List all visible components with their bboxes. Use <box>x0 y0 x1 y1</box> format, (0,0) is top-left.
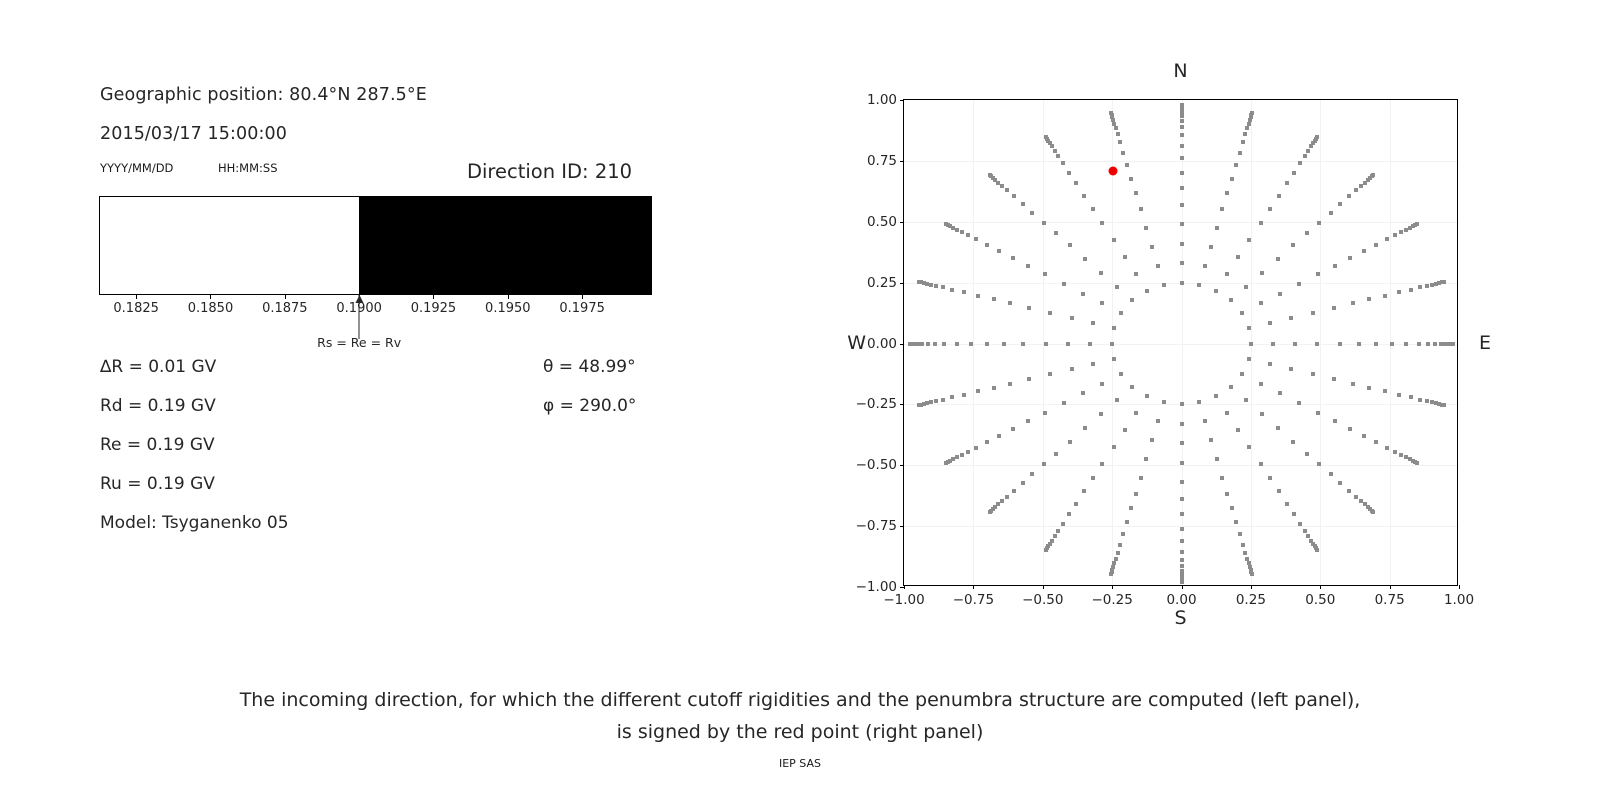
scatter-point <box>1292 512 1296 516</box>
scatter-point <box>1082 194 1086 198</box>
scatter-point <box>1348 256 1352 260</box>
scatter-point <box>1112 326 1116 330</box>
scatter-point <box>1298 522 1302 526</box>
scatter-point <box>1043 411 1047 415</box>
scatter-point <box>944 461 948 465</box>
scatter-point <box>1068 243 1072 247</box>
scatter-point <box>1245 126 1249 130</box>
caption-line-2: is signed by the red point (right panel) <box>0 716 1600 748</box>
scatter-point <box>1180 558 1184 562</box>
geographic-position-text: Geographic position: 80.4°N 287.5°E <box>100 85 427 105</box>
scatter-point <box>1238 532 1242 536</box>
scatter-point <box>1348 427 1352 431</box>
scatter-point <box>1247 357 1251 361</box>
scatter-point <box>1005 188 1009 192</box>
scatter-point <box>1134 411 1138 415</box>
scatter-point <box>1144 457 1148 461</box>
scatter-point <box>1123 428 1127 432</box>
scatter-point <box>1277 194 1281 198</box>
scatter-point <box>955 455 959 459</box>
scatter-point <box>1180 133 1184 137</box>
x-tick-label: 0.50 <box>1305 592 1335 608</box>
scatter-point <box>1329 472 1333 476</box>
scatter-point <box>1099 271 1103 275</box>
y-tick-mark <box>900 100 904 101</box>
scatter-point <box>929 400 933 404</box>
scatter-point <box>1061 522 1065 526</box>
scatter-point <box>1043 272 1047 276</box>
scatter-point <box>1315 342 1319 346</box>
scatter-point <box>1081 391 1085 395</box>
scatter-point <box>1180 402 1184 406</box>
scatter-point <box>1225 272 1229 276</box>
y-tick-label: −0.50 <box>856 457 897 473</box>
penumbra-tick-mark <box>508 295 509 299</box>
scatter-point <box>1042 221 1046 225</box>
scatter-point <box>1289 316 1293 320</box>
scatter-point <box>1230 506 1234 510</box>
scatter-point <box>976 389 980 393</box>
scatter-point <box>1354 495 1358 499</box>
scatter-point <box>1180 186 1184 190</box>
x-tick-label: 0.25 <box>1236 592 1266 608</box>
scatter-point <box>1316 272 1320 276</box>
compass-north-label: N <box>1173 60 1187 82</box>
penumbra-tick-label: 0.1975 <box>559 301 605 316</box>
scatter-point <box>1180 527 1184 531</box>
scatter-point <box>1260 412 1264 416</box>
scatter-point <box>1241 543 1245 547</box>
rs-re-rv-arrow-icon <box>359 295 360 339</box>
scatter-point <box>1374 440 1378 444</box>
scatter-point <box>1125 163 1129 167</box>
scatter-point <box>1180 422 1184 426</box>
selected-direction-point[interactable] <box>1109 167 1118 176</box>
scatter-point <box>1156 264 1160 268</box>
scatter-point <box>1074 502 1078 506</box>
datetime-text: 2015/03/17 15:00:00 <box>100 124 287 144</box>
param-theta: θ = 48.99° <box>543 357 636 377</box>
rs-re-rv-label: Rs = Re = Rv <box>317 335 401 350</box>
scatter-point <box>1203 264 1207 268</box>
scatter-point <box>1044 135 1048 139</box>
scatter-point <box>1145 289 1149 293</box>
scatter-point <box>960 453 964 457</box>
scatter-point <box>1026 419 1030 423</box>
y-tick-mark <box>900 404 904 405</box>
scatter-point <box>974 237 978 241</box>
scatter-point <box>1066 342 1070 346</box>
scatter-point <box>1291 440 1295 444</box>
scatter-point <box>1109 572 1113 576</box>
scatter-point <box>997 249 1001 253</box>
x-tick-mark <box>1459 585 1460 589</box>
scatter-point <box>1333 264 1337 268</box>
scatter-point <box>1112 445 1116 449</box>
penumbra-tick-label: 0.1925 <box>411 301 457 316</box>
scatter-point <box>1114 126 1118 130</box>
y-tick-label: 0.25 <box>867 275 897 291</box>
scatter-point <box>1067 171 1071 175</box>
scatter-point <box>1130 385 1134 389</box>
scatter-point <box>1425 284 1429 288</box>
scatter-point <box>1005 495 1009 499</box>
compass-east-label: E <box>1479 332 1491 354</box>
scatter-point <box>1244 285 1248 289</box>
scatter-point <box>1144 226 1148 230</box>
scatter-point <box>1285 502 1289 506</box>
scatter-point <box>1247 445 1251 449</box>
scatter-point <box>1351 382 1355 386</box>
scatter-point <box>988 510 992 514</box>
scatter-point <box>1278 391 1282 395</box>
scatter-point <box>1399 230 1403 234</box>
scatter-point <box>966 450 970 454</box>
compass-south-label: S <box>1174 607 1186 629</box>
scatter-point <box>1289 367 1293 371</box>
scatter-point <box>1393 233 1397 237</box>
scatter-point <box>1234 520 1238 524</box>
scatter-point <box>1276 426 1280 430</box>
scatter-point <box>1048 311 1052 315</box>
scatter-point <box>1070 316 1074 320</box>
scatter-point <box>1374 243 1378 247</box>
scatter-point <box>908 342 912 346</box>
scatter-point <box>1150 245 1154 249</box>
scatter-point <box>976 294 980 298</box>
scatter-point <box>1351 301 1355 305</box>
scatter-point <box>950 288 954 292</box>
scatter-point <box>1229 298 1233 302</box>
scatter-point <box>1383 294 1387 298</box>
scatter-point <box>1214 289 1218 293</box>
scatter-point <box>1134 191 1138 195</box>
y-tick-mark <box>900 465 904 466</box>
scatter-point <box>1374 342 1378 346</box>
scatter-point <box>1150 438 1154 442</box>
penumbra-frame <box>99 196 652 295</box>
scatter-point <box>1225 492 1229 496</box>
scatter-point <box>1354 188 1358 192</box>
scatter-point <box>1180 580 1184 584</box>
scatter-point <box>1397 290 1401 294</box>
scatter-point <box>955 228 959 232</box>
scatter-point <box>1027 377 1031 381</box>
scatter-point <box>1121 151 1125 155</box>
x-tick-mark <box>904 585 905 589</box>
scatter-point <box>1383 389 1387 393</box>
gridline-vertical <box>1320 100 1321 585</box>
param-delta-r-text: ∆R = 0.01 GV <box>100 357 216 377</box>
scatter-point <box>1100 382 1104 386</box>
scatter-point <box>1393 450 1397 454</box>
scatter-point <box>1081 292 1085 296</box>
x-tick-mark <box>1182 585 1183 589</box>
scatter-point <box>1180 103 1184 107</box>
scatter-point <box>1215 457 1219 461</box>
scatter-point <box>1225 191 1229 195</box>
scatter-point <box>1285 181 1289 185</box>
scatter-point <box>1268 207 1272 211</box>
scatter-point <box>974 446 978 450</box>
scatter-point <box>1244 398 1248 402</box>
scatter-point <box>1247 238 1251 242</box>
scatter-point <box>942 342 946 346</box>
scatter-point <box>1259 462 1263 466</box>
x-tick-mark <box>1043 585 1044 589</box>
scatter-point <box>1082 489 1086 493</box>
scatter-point <box>1277 489 1281 493</box>
scatter-point <box>1409 395 1413 399</box>
scatter-point <box>1347 194 1351 198</box>
scatter-point <box>1249 342 1253 346</box>
gridline-horizontal <box>904 465 1457 466</box>
scatter-point <box>1083 426 1087 430</box>
scatter-point <box>1180 539 1184 543</box>
scatter-point <box>1056 154 1060 158</box>
scatter-point <box>1042 462 1046 466</box>
scatter-point <box>1030 472 1034 476</box>
scatter-point <box>992 386 996 390</box>
y-tick-mark <box>900 222 904 223</box>
scatter-point <box>1180 550 1184 554</box>
scatter-point <box>1119 372 1123 376</box>
scatter-point <box>1259 221 1263 225</box>
scatter-point <box>1250 111 1254 115</box>
scatter-point <box>1100 221 1104 225</box>
scatter-point <box>1053 149 1057 153</box>
scatter-point <box>1234 163 1238 167</box>
scatter-point <box>1048 372 1052 376</box>
param-phi: φ = 290.0° <box>543 396 636 416</box>
scatter-point <box>1415 461 1419 465</box>
x-tick-label: −0.25 <box>1091 592 1132 608</box>
date-format-hint: YYYY/MM/DD <box>100 161 173 175</box>
scatter-point <box>1091 321 1095 325</box>
scatter-point <box>1197 400 1201 404</box>
scatter-point <box>1238 151 1242 155</box>
compass-west-label: W <box>847 332 866 354</box>
param-rd: Rd = 0.19 GV <box>100 396 216 416</box>
direction-scatter-plot[interactable]: −1.00−0.75−0.50−0.250.000.250.500.751.00… <box>903 99 1458 586</box>
y-tick-label: 0.00 <box>867 336 897 352</box>
scatter-point <box>1303 154 1307 158</box>
scatter-point <box>1371 510 1375 514</box>
scatter-point <box>917 403 921 407</box>
scatter-point <box>1259 301 1263 305</box>
scatter-point <box>1417 342 1421 346</box>
scatter-point <box>1115 398 1119 402</box>
scatter-point <box>1425 399 1429 403</box>
scatter-point <box>1180 222 1184 226</box>
scatter-point <box>960 230 964 234</box>
scatter-point <box>1306 149 1310 153</box>
scatter-point <box>1311 311 1315 315</box>
scatter-point <box>1145 394 1149 398</box>
scatter-point <box>1109 111 1113 115</box>
scatter-point <box>962 393 966 397</box>
param-model: Model: Tsyganenko 05 <box>100 513 289 533</box>
scatter-point <box>1215 226 1219 230</box>
scatter-point <box>969 342 973 346</box>
scatter-point <box>1247 326 1251 330</box>
y-tick-mark <box>900 161 904 162</box>
scatter-point <box>1209 438 1213 442</box>
scatter-point <box>985 440 989 444</box>
scatter-point <box>1061 161 1065 165</box>
scatter-point <box>1399 453 1403 457</box>
scatter-point <box>1180 119 1184 123</box>
scatter-point <box>1268 362 1272 366</box>
param-ru: Ru = 0.19 GV <box>100 474 215 494</box>
scatter-point <box>1180 203 1184 207</box>
scatter-point <box>1180 114 1184 118</box>
scatter-point <box>1091 476 1095 480</box>
y-tick-label: 0.75 <box>867 153 897 169</box>
scatter-point <box>1027 306 1031 310</box>
scatter-point <box>1209 245 1213 249</box>
scatter-point <box>1243 132 1247 136</box>
scatter-point <box>1008 382 1012 386</box>
scatter-point <box>929 283 933 287</box>
x-tick-mark <box>1390 585 1391 589</box>
scatter-point <box>1367 297 1371 301</box>
penumbra-plot: 0.18250.18500.18750.19000.19250.19500.19… <box>99 196 652 295</box>
scatter-point <box>1291 243 1295 247</box>
scatter-point <box>1130 298 1134 302</box>
scatter-point <box>1091 362 1095 366</box>
scatter-point <box>1134 492 1138 496</box>
gridline-horizontal <box>904 161 1457 162</box>
scatter-point <box>1260 271 1264 275</box>
scatter-point <box>1123 255 1127 259</box>
scatter-point <box>1011 256 1015 260</box>
scatter-point <box>1129 506 1133 510</box>
penumbra-allowed-region <box>100 197 359 294</box>
scatter-point <box>1271 342 1275 346</box>
scatter-point <box>955 342 959 346</box>
scatter-point <box>1062 401 1066 405</box>
scatter-point <box>992 297 996 301</box>
left-panel: Geographic position: 80.4°N 287.5°E 2015… <box>0 0 760 620</box>
scatter-point <box>1134 272 1138 276</box>
penumbra-tick-mark <box>210 295 211 299</box>
scatter-point <box>941 398 945 402</box>
scatter-point <box>1129 177 1133 181</box>
scatter-point <box>1139 207 1143 211</box>
x-tick-mark <box>1112 585 1113 589</box>
scatter-point <box>1125 520 1129 524</box>
y-tick-label: −0.75 <box>856 518 897 534</box>
scatter-point <box>1247 122 1251 126</box>
scatter-point <box>1338 481 1342 485</box>
time-format-hint: HH:MM:SS <box>218 161 278 175</box>
scatter-point <box>926 342 930 346</box>
footer-credit: IEP SAS <box>0 757 1600 770</box>
scatter-point <box>1347 489 1351 493</box>
scatter-point <box>1180 480 1184 484</box>
scatter-point <box>1415 222 1419 226</box>
y-tick-label: −1.00 <box>856 579 897 595</box>
scatter-point <box>1451 342 1455 346</box>
scatter-point <box>1338 202 1342 206</box>
scatter-point <box>1220 476 1224 480</box>
scatter-point <box>1426 342 1430 346</box>
scatter-point <box>1070 367 1074 371</box>
penumbra-tick-mark <box>433 295 434 299</box>
figure-caption: The incoming direction, for which the di… <box>0 684 1600 748</box>
scatter-point <box>1002 342 1006 346</box>
penumbra-tick-mark <box>136 295 137 299</box>
scatter-point <box>1115 285 1119 289</box>
scatter-point <box>1292 171 1296 175</box>
y-tick-mark <box>900 283 904 284</box>
scatter-point <box>1068 440 1072 444</box>
scatter-point <box>1317 221 1321 225</box>
scatter-point <box>1241 140 1245 144</box>
scatter-point <box>1114 557 1118 561</box>
scatter-point <box>917 280 921 284</box>
scatter-point <box>966 233 970 237</box>
scatter-point <box>1180 144 1184 148</box>
scatter-point <box>1021 202 1025 206</box>
scatter-point <box>1180 261 1184 265</box>
scatter-point <box>1180 281 1184 285</box>
scatter-point <box>944 222 948 226</box>
y-tick-label: 1.00 <box>867 92 897 108</box>
scatter-point <box>985 342 989 346</box>
x-tick-mark <box>1251 585 1252 589</box>
scatter-point <box>1180 497 1184 501</box>
scatter-point <box>1317 462 1321 466</box>
x-tick-label: 1.00 <box>1444 592 1474 608</box>
penumbra-tick-label: 0.1825 <box>113 301 159 316</box>
scatter-point <box>1180 564 1184 568</box>
scatter-point <box>941 285 945 289</box>
scatter-point <box>1357 342 1361 346</box>
scatter-point <box>1305 231 1309 235</box>
scatter-point <box>1332 377 1336 381</box>
scatter-point <box>1225 411 1229 415</box>
scatter-point <box>1054 452 1058 456</box>
scatter-point <box>1293 342 1297 346</box>
y-tick-label: −0.25 <box>856 396 897 412</box>
scatter-point <box>1030 211 1034 215</box>
y-tick-mark <box>900 344 904 345</box>
param-delta-r: ∆R = 0.01 GV <box>100 357 216 377</box>
scatter-point <box>1197 283 1201 287</box>
scatter-point <box>1156 419 1160 423</box>
scatter-point <box>1118 140 1122 144</box>
penumbra-tick-mark <box>285 295 286 299</box>
scatter-point <box>1329 211 1333 215</box>
scatter-point <box>1250 572 1254 576</box>
scatter-point <box>1180 441 1184 445</box>
penumbra-tick-label: 0.1875 <box>262 301 308 316</box>
scatter-point <box>1074 181 1078 185</box>
scatter-point <box>1112 238 1116 242</box>
scatter-point <box>1088 342 1092 346</box>
scatter-point <box>1236 428 1240 432</box>
scatter-point <box>1110 342 1114 346</box>
scatter-point <box>1112 357 1116 361</box>
y-tick-mark <box>900 526 904 527</box>
scatter-point <box>1409 288 1413 292</box>
scatter-point <box>1118 543 1122 547</box>
scatter-point <box>1162 400 1166 404</box>
scatter-point <box>1305 452 1309 456</box>
scatter-point <box>933 342 937 346</box>
